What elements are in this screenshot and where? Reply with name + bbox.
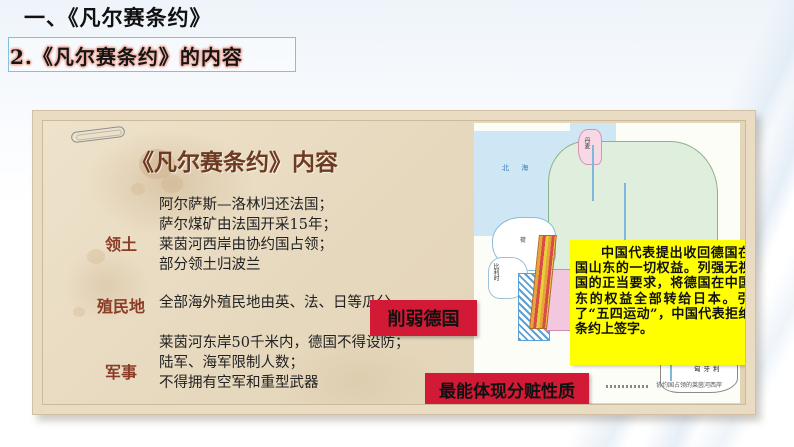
military-line-1: 莱茵河东岸50千米内，德国不得设防； [159,333,409,353]
note-shandong: 中国代表提出收回德国在中国山东的一切权益。列强无视中国的正当要求，将德国在中国山… [570,240,746,365]
territory-line-3: 莱茵河西岸由协约国占领； [159,235,337,255]
map-label-north-sea: 北 海 [502,163,533,173]
row-label-colonies: 殖民地 [83,291,159,317]
card-title: 《凡尔赛条约》内容 [131,143,338,177]
military-line-2: 陆军、海军限制人数； [159,353,409,373]
card-inner-frame: 《凡尔赛条约》内容 北 海 丹麦 荷 比利时 德 国 [42,120,746,405]
territory-line-4: 部分领土归波兰 [159,255,337,275]
map-label-denmark: 丹麦 [582,137,591,149]
paperclip-left-icon [71,129,127,142]
treaty-content-card: 《凡尔赛条约》内容 北 海 丹麦 荷 比利时 德 国 [32,110,756,415]
row-body-military: 莱茵河东岸50千米内，德国不得设防； 陆军、海军限制人数； 不得拥有空军和重型武… [159,333,409,393]
territory-line-1: 阿尔萨斯—洛林归还法国； [159,195,337,215]
ink-splatter-3 [131,183,145,195]
legend-label-occupied: 协约国占领的莱茵河西岸 [656,380,722,389]
colonies-line-1: 全部海外殖民地由英、法、日等瓜分 [159,293,391,313]
subtitle-text: 2.《凡尔赛条约》的内容 [10,41,243,70]
legend-swatch-occupied [606,385,650,388]
row-body-territory: 阿尔萨斯—洛林归还法国； 萨尔煤矿由法国开采15年； 莱茵河西岸由协约国占领； … [159,195,337,275]
callout-weaken-germany: 削弱德国 [370,300,477,336]
military-line-3: 不得拥有空军和重型武器 [159,373,409,393]
territory-line-2: 萨尔煤矿由法国开采15年； [159,215,337,235]
map-label-netherlands: 荷 [520,235,526,244]
row-label-military: 军事 [83,333,159,383]
ink-splatter-2 [161,175,183,193]
table-row: 领土 阿尔萨斯—洛林归还法国； 萨尔煤矿由法国开采15年； 莱茵河西岸由协约国占… [83,195,503,291]
page-title: 一、《凡尔赛条约》 [24,2,212,32]
map-river-1 [592,145,594,201]
row-label-territory: 领土 [83,195,159,255]
row-body-colonies: 全部海外殖民地由英、法、日等瓜分 [159,291,391,313]
callout-spoils-nature: 最能体现分赃性质 [425,373,589,405]
